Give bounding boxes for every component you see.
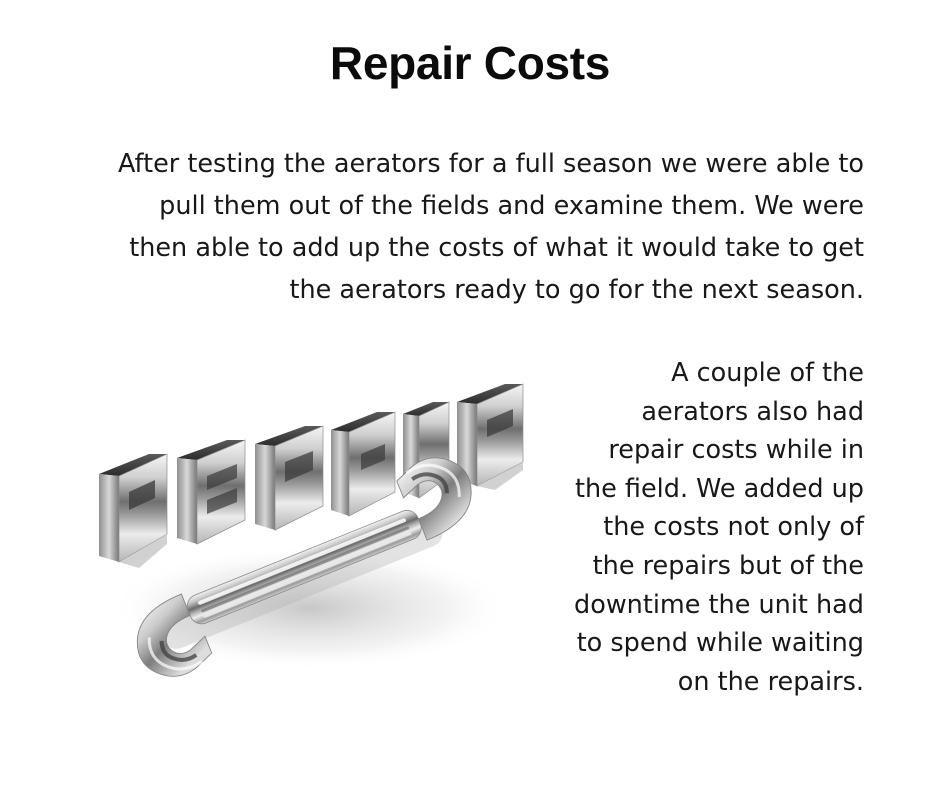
intro-paragraph: After testing the aerators for a full se… <box>78 143 864 311</box>
letter-p <box>255 426 323 530</box>
side-line: the repairs but of the <box>552 547 864 586</box>
side-line: the field. We added up <box>552 470 864 509</box>
page-title: Repair Costs <box>0 34 940 92</box>
side-line: A couple of the <box>552 354 864 393</box>
side-line: on the repairs. <box>552 663 864 702</box>
slide-canvas: Repair Costs After testing the aerators … <box>0 0 940 788</box>
side-line: to spend while waiting <box>552 624 864 663</box>
letter-r-1 <box>99 454 167 568</box>
intro-line: After testing the aerators for a full se… <box>78 143 864 185</box>
letter-e <box>177 440 245 544</box>
side-line: downtime the unit had <box>552 586 864 625</box>
side-line: repair costs while in <box>552 431 864 470</box>
side-line: aerators also had <box>552 393 864 432</box>
letter-a <box>331 412 395 516</box>
intro-line: then able to add up the costs of what it… <box>78 227 864 269</box>
side-paragraph: A couple of the aerators also had repair… <box>552 354 864 701</box>
intro-line: pull them out of the fields and examine … <box>78 185 864 227</box>
repair-wrench-image <box>85 358 525 692</box>
intro-line: the aerators ready to go for the next se… <box>78 269 864 311</box>
side-line: the costs not only of <box>552 508 864 547</box>
